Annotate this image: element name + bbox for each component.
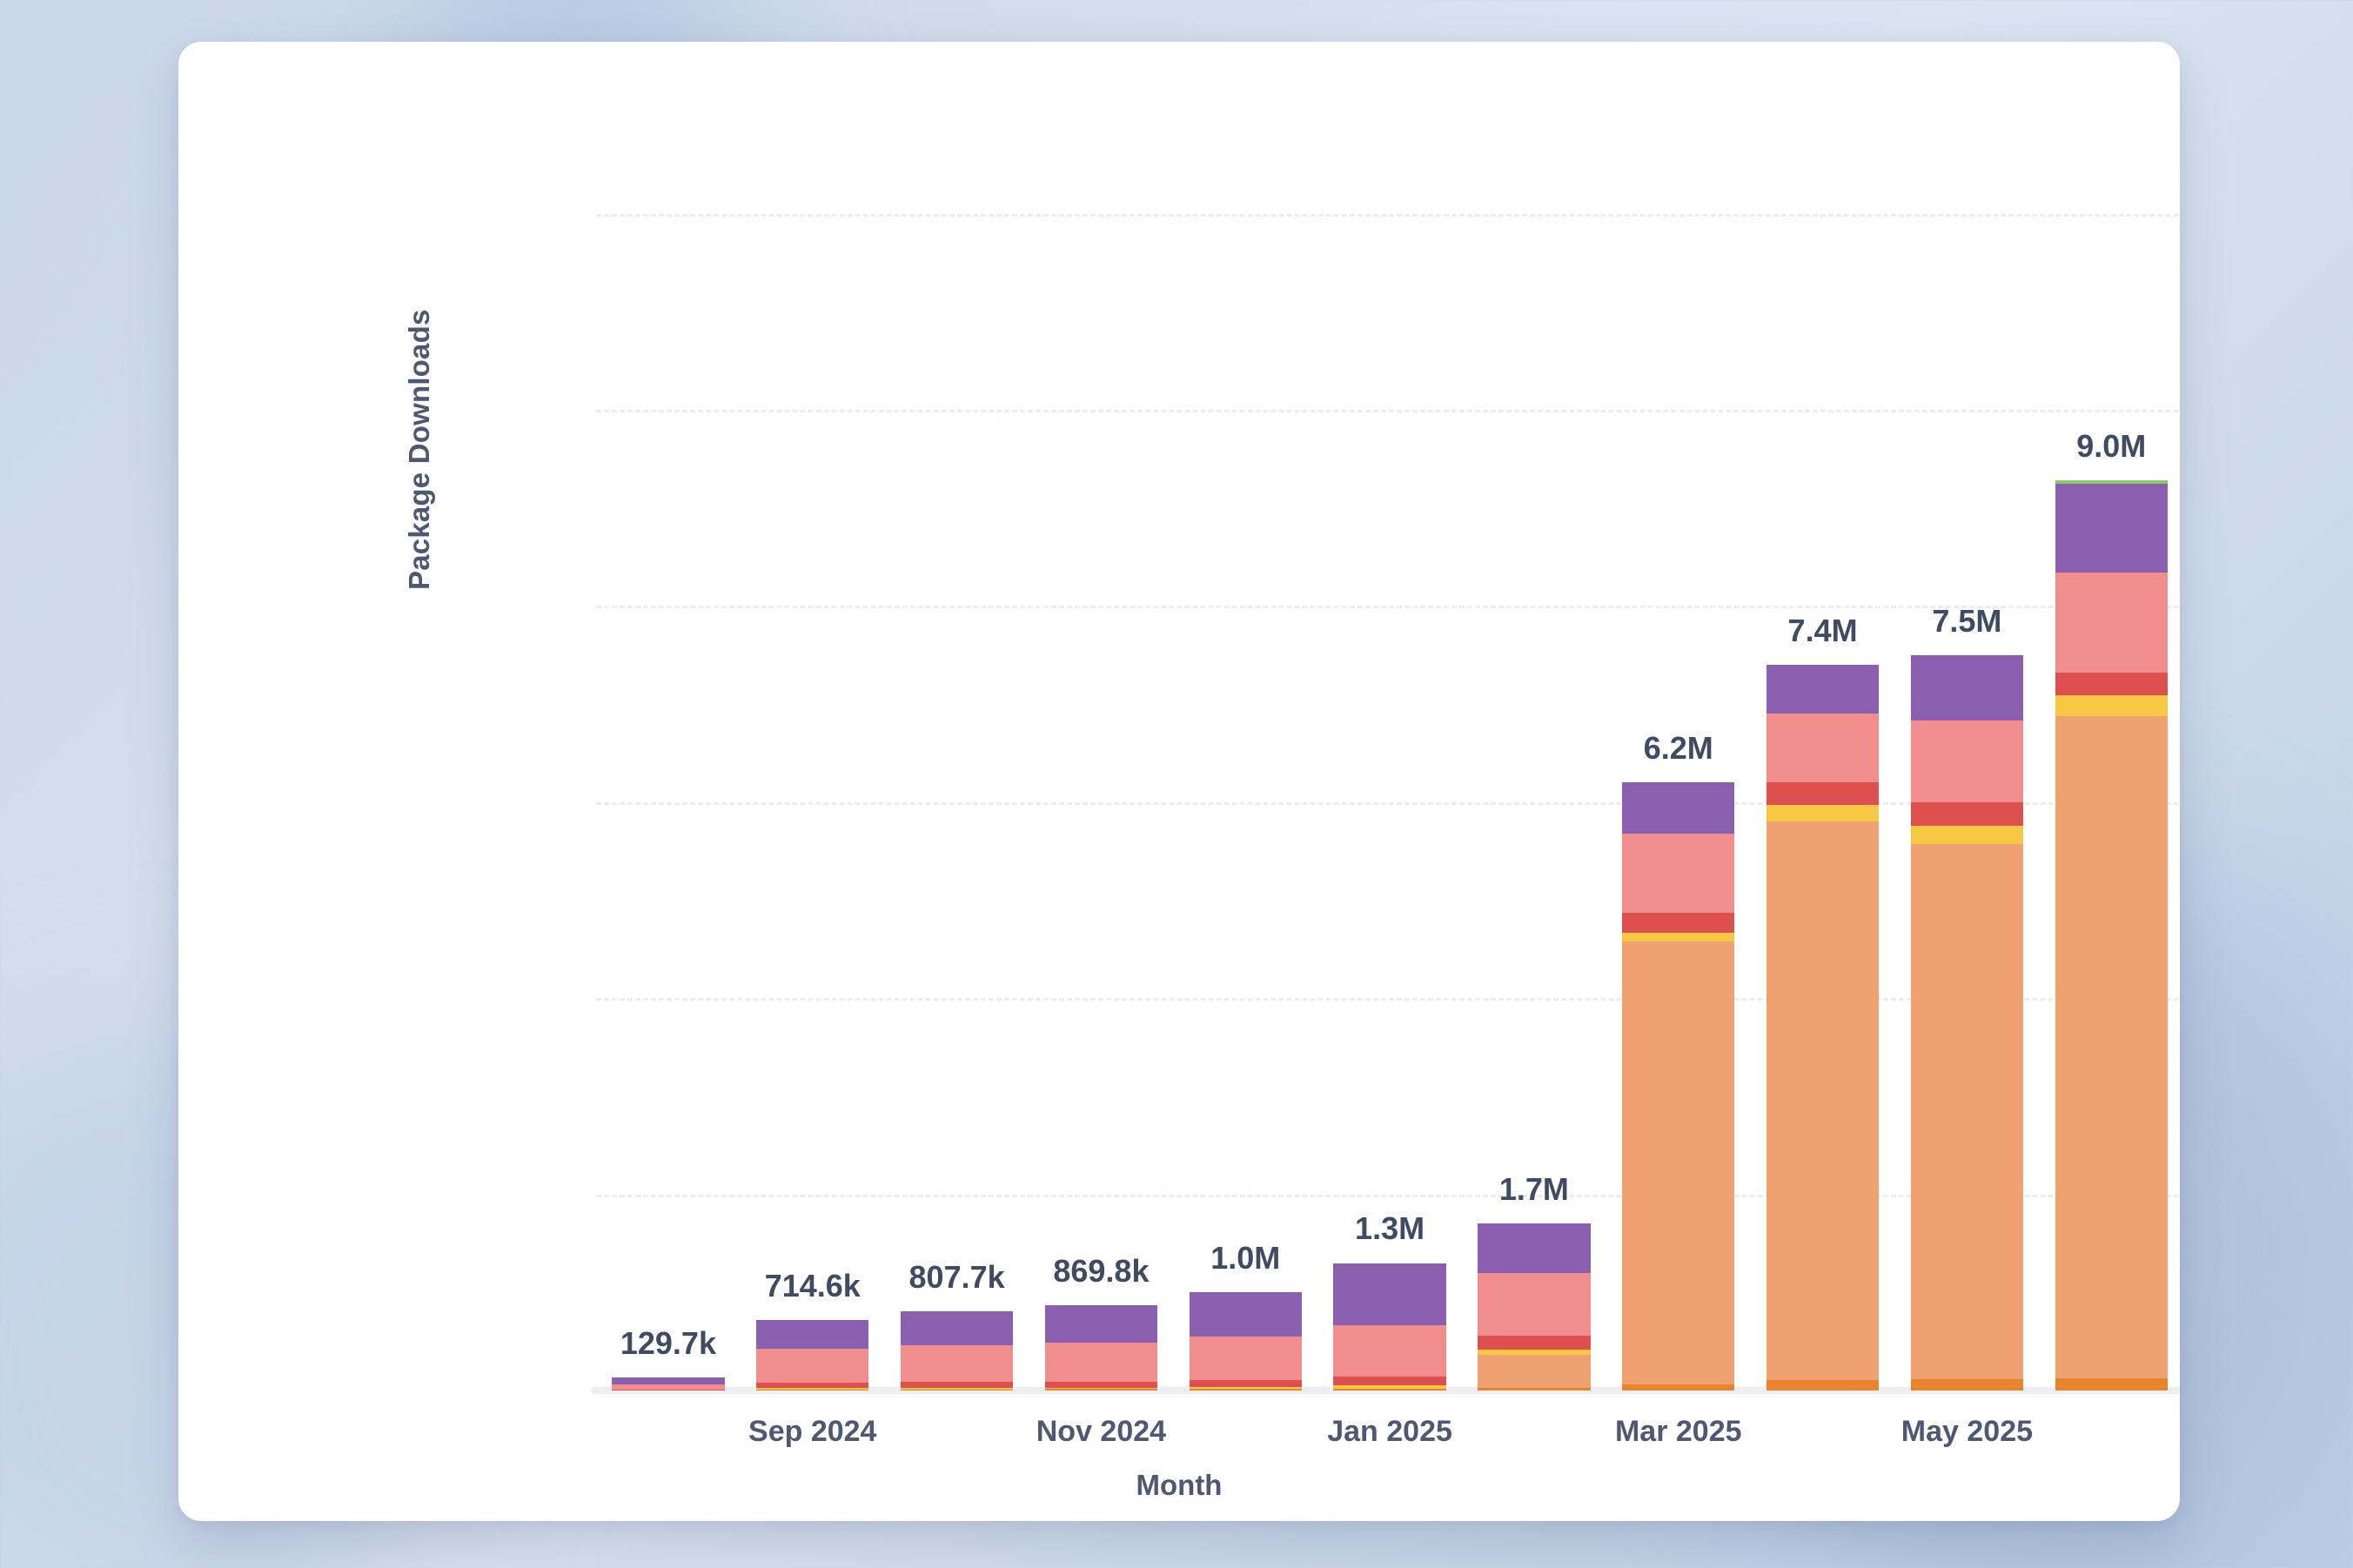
bar-value-label: 7.4M	[1788, 613, 1858, 649]
bar-value-label: 7.5M	[1932, 603, 2001, 640]
x-tick-label: Nov 2024	[1036, 1415, 1166, 1449]
bar-segment[interactable]	[901, 1382, 1013, 1388]
bar-stack[interactable]	[1622, 782, 1734, 1390]
bar-segment[interactable]	[1911, 655, 2023, 721]
bar-segment[interactable]	[1478, 1388, 1590, 1390]
bar-stack[interactable]	[612, 1377, 724, 1390]
bar-segment[interactable]	[1622, 834, 1734, 913]
bar-segment[interactable]	[756, 1349, 868, 1382]
bar-segment[interactable]	[612, 1390, 724, 1390]
bar-segment[interactable]	[1911, 802, 2023, 827]
bar-segment[interactable]	[1045, 1305, 1157, 1343]
bar-stack[interactable]	[1190, 1292, 1302, 1390]
bar-segment[interactable]	[1045, 1389, 1157, 1390]
bar-segment[interactable]	[1333, 1263, 1445, 1325]
bar-segment[interactable]	[612, 1377, 724, 1384]
bar-segment[interactable]	[2055, 1378, 2168, 1390]
x-tick-label: Mar 2025	[1615, 1415, 1742, 1449]
bar-segment[interactable]	[1911, 844, 2023, 1379]
bar-value-label: 807.7k	[909, 1259, 1005, 1296]
bar-segment[interactable]	[901, 1311, 1013, 1345]
x-axis-title: Month	[178, 1469, 2180, 1502]
bar-segment[interactable]	[1622, 782, 1734, 834]
bar-value-label: 714.6k	[765, 1268, 861, 1304]
bar-value-label: 6.2M	[1644, 730, 1713, 767]
bar-segment[interactable]	[1478, 1273, 1590, 1336]
bar-segment[interactable]	[1190, 1380, 1302, 1387]
bar-value-label: 1.7M	[1499, 1171, 1569, 1208]
bar-segment[interactable]	[1478, 1223, 1590, 1272]
bar-segment[interactable]	[1333, 1325, 1445, 1377]
bar-segment[interactable]	[2055, 673, 2168, 695]
bar-segment[interactable]	[756, 1390, 868, 1390]
bar-segment[interactable]	[1622, 941, 1734, 1384]
bar-segment[interactable]	[1911, 826, 2023, 843]
bar-segment[interactable]	[1478, 1350, 1590, 1356]
bar-segment[interactable]	[1190, 1337, 1302, 1380]
bar-segment[interactable]	[1478, 1336, 1590, 1350]
bar-segment[interactable]	[1622, 933, 1734, 941]
gridline	[596, 214, 2180, 217]
bar-stack[interactable]	[901, 1311, 1013, 1390]
bar-segment[interactable]	[1911, 1379, 2023, 1390]
bar-stack[interactable]	[2055, 480, 2168, 1390]
bar-segment[interactable]	[901, 1390, 1013, 1390]
bar-segment[interactable]	[901, 1345, 1013, 1382]
bar-segment[interactable]	[2055, 573, 2168, 673]
bar-segment[interactable]	[1766, 714, 1879, 782]
bar-stack[interactable]	[1333, 1263, 1445, 1391]
x-tick-label: Jan 2025	[1327, 1415, 1452, 1449]
bar-segment[interactable]	[1478, 1355, 1590, 1387]
bar-segment[interactable]	[1190, 1389, 1302, 1390]
bar-segment[interactable]	[1190, 1292, 1302, 1337]
bar-stack[interactable]	[1478, 1223, 1590, 1390]
x-tick-label: Sep 2024	[748, 1415, 876, 1449]
bar-segment[interactable]	[1622, 913, 1734, 933]
gridline	[596, 410, 2180, 412]
bar-segment[interactable]	[1622, 1384, 1734, 1390]
stacked-bar-chart: Package Downloads Month 02.0M4.0M6.0M8.0…	[178, 42, 2180, 1521]
plot-area: 129.7k714.6k807.7k869.8k1.0M1.3M1.7M6.2M…	[596, 155, 2180, 1390]
bar-segment[interactable]	[1045, 1343, 1157, 1382]
bar-value-label: 1.0M	[1210, 1240, 1280, 1277]
chart-card: Package Downloads Month 02.0M4.0M6.0M8.0…	[178, 42, 2180, 1521]
bar-segment[interactable]	[1911, 720, 2023, 802]
bar-segment[interactable]	[1333, 1377, 1445, 1386]
bar-segment[interactable]	[2055, 716, 2168, 1379]
bar-segment[interactable]	[1766, 665, 1879, 714]
bar-segment[interactable]	[1045, 1382, 1157, 1388]
bar-stack[interactable]	[1766, 665, 1879, 1390]
bar-value-label: 9.0M	[2076, 428, 2146, 465]
bar-segment[interactable]	[756, 1320, 868, 1349]
bar-value-label: 1.3M	[1355, 1210, 1425, 1247]
bar-value-label: 869.8k	[1053, 1253, 1149, 1290]
bar-stack[interactable]	[1045, 1305, 1157, 1390]
bar-value-label: 129.7k	[620, 1325, 716, 1362]
y-axis-title: Package Downloads	[403, 224, 436, 590]
bar-segment[interactable]	[1766, 782, 1879, 805]
bar-segment[interactable]	[1333, 1389, 1445, 1390]
bar-segment[interactable]	[1766, 1380, 1879, 1390]
bar-segment[interactable]	[2055, 484, 2168, 573]
bar-stack[interactable]	[756, 1320, 868, 1390]
bar-segment[interactable]	[1766, 805, 1879, 821]
bar-stack[interactable]	[1911, 655, 2023, 1390]
x-tick-label: May 2025	[1901, 1415, 2033, 1449]
bar-segment[interactable]	[1766, 821, 1879, 1379]
bar-segment[interactable]	[2055, 695, 2168, 716]
